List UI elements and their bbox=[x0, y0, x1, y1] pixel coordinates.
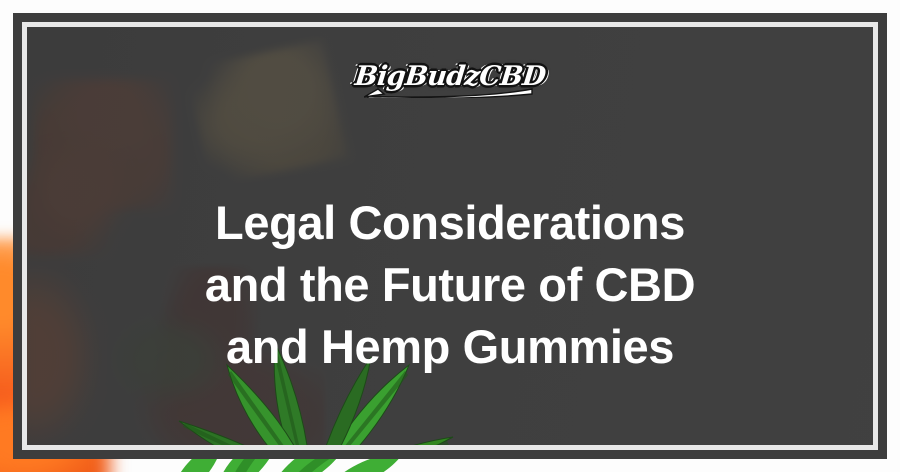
headline-line-2: and the Future of CBD bbox=[43, 254, 857, 316]
banner-frame: BigBudzCBD Legal Considerations and the … bbox=[13, 13, 887, 459]
page-title: Legal Considerations and the Future of C… bbox=[13, 192, 887, 378]
brand-logo[interactable]: BigBudzCBD bbox=[13, 53, 887, 99]
cbd-blog-banner: BigBudzCBD Legal Considerations and the … bbox=[0, 0, 900, 472]
headline-line-1: Legal Considerations bbox=[43, 192, 857, 254]
brand-logo-text: BigBudzCBD bbox=[353, 61, 547, 92]
banner-content: BigBudzCBD Legal Considerations and the … bbox=[13, 13, 887, 459]
headline-line-3: and Hemp Gummies bbox=[43, 316, 857, 378]
